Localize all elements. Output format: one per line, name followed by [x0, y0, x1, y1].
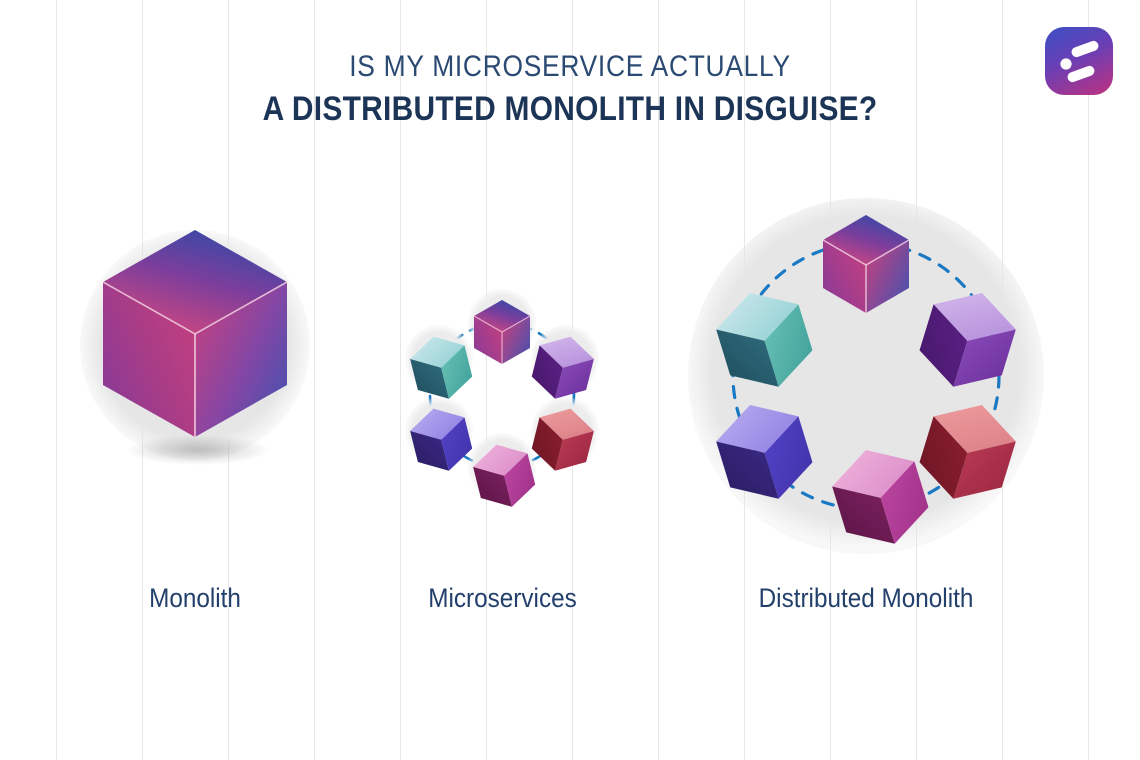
brand-logo[interactable]	[1045, 27, 1113, 95]
infographic-canvas: IS MY MICROSERVICE ACTUALLY A DISTRIBUTE…	[0, 0, 1140, 760]
panel-distributed-monolith: Distributed Monolith	[660, 180, 1072, 620]
panel-monolith: Monolith	[55, 200, 335, 620]
panel-label-distributed-monolith: Distributed Monolith	[681, 583, 1052, 614]
panel-label-monolith: Monolith	[69, 583, 321, 614]
panel-microservices: Microservices	[375, 200, 630, 620]
page-title: IS MY MICROSERVICE ACTUALLY A DISTRIBUTE…	[0, 52, 1140, 126]
title-line-1: IS MY MICROSERVICE ACTUALLY	[68, 52, 1071, 82]
panel-label-microservices: Microservices	[388, 583, 618, 614]
header: IS MY MICROSERVICE ACTUALLY A DISTRIBUTE…	[0, 0, 1140, 150]
title-line-2: A DISTRIBUTED MONOLITH IN DISGUISE?	[68, 92, 1071, 126]
brand-logo-mark-icon	[1045, 27, 1113, 95]
monolith-shadow	[126, 435, 270, 465]
microservices-illustration	[375, 200, 630, 580]
distributed-monolith-illustration	[660, 180, 1072, 580]
monolith-illustration	[55, 200, 335, 580]
